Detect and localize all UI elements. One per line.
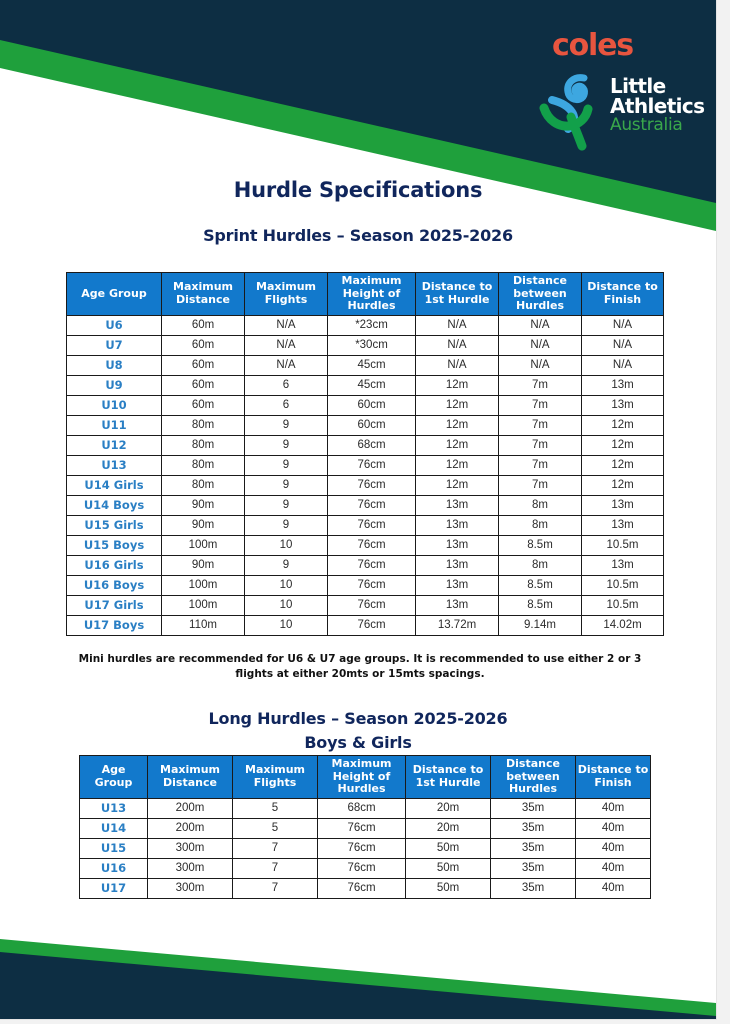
table-cell: N/A (245, 315, 328, 335)
document-page: coles Little Athletics Australia Hurdle … (0, 0, 716, 1019)
table-cell: 50m (406, 878, 491, 898)
little-athletics-runner-icon (538, 72, 608, 152)
coles-logo: coles (552, 28, 633, 63)
table-cell: 8.5m (499, 575, 582, 595)
table-cell: 9 (245, 435, 328, 455)
table-cell: 76cm (328, 475, 416, 495)
table-cell: 60m (162, 315, 245, 335)
table-cell: 10 (245, 615, 328, 635)
table-cell: 20m (406, 798, 491, 818)
table-cell: 35m (491, 838, 576, 858)
table-cell: N/A (416, 355, 499, 375)
table-row: U1060m660cm12m7m13m (67, 395, 664, 415)
long-section-subtitle: Long Hurdles – Season 2025-2026 (0, 709, 716, 728)
table-cell: 76cm (318, 858, 406, 878)
cell-age-group: U15 Girls (67, 515, 162, 535)
col-header-maximum-flights: Maximum Flights (233, 756, 318, 799)
table-cell: 7m (499, 435, 582, 455)
table-cell: 12m (416, 435, 499, 455)
table-row: U16 Boys100m1076cm13m8.5m10.5m (67, 575, 664, 595)
col-header-distance-finish: Distance to Finish (576, 756, 651, 799)
table-cell: 90m (162, 495, 245, 515)
table-row: U13200m568cm20m35m40m (80, 798, 651, 818)
table-cell: 9 (245, 415, 328, 435)
table-cell: 7 (233, 878, 318, 898)
table-cell: 8.5m (499, 535, 582, 555)
table-cell: 8.5m (499, 595, 582, 615)
header-banner: coles Little Athletics Australia (0, 0, 716, 252)
table-cell: 12m (582, 415, 664, 435)
col-header-maximum-height: Maximum Height of Hurdles (318, 756, 406, 799)
logo-line-little: Little (610, 76, 704, 96)
table-row: U16300m776cm50m35m40m (80, 858, 651, 878)
table-cell: 9 (245, 555, 328, 575)
cell-age-group: U17 (80, 878, 148, 898)
table-cell: 50m (406, 838, 491, 858)
table-cell: 76cm (318, 878, 406, 898)
table-cell: 7m (499, 375, 582, 395)
table-row: U1180m960cm12m7m12m (67, 415, 664, 435)
table-cell: 9 (245, 495, 328, 515)
table-cell: 76cm (328, 615, 416, 635)
table-cell: 300m (148, 878, 233, 898)
table-cell: N/A (245, 335, 328, 355)
table-cell: 68cm (328, 435, 416, 455)
table-cell: 40m (576, 818, 651, 838)
col-header-distance-between: Distance between Hurdles (491, 756, 576, 799)
table-cell: N/A (416, 315, 499, 335)
table-cell: 7m (499, 395, 582, 415)
table-cell: 7m (499, 415, 582, 435)
table-row: U15300m776cm50m35m40m (80, 838, 651, 858)
long-section-subtitle-boys-girls: Boys & Girls (0, 733, 716, 752)
table-cell: 12m (582, 455, 664, 475)
cell-age-group: U13 (67, 455, 162, 475)
table-cell: 14.02m (582, 615, 664, 635)
table-cell: 76cm (328, 535, 416, 555)
table-cell: 45cm (328, 355, 416, 375)
cell-age-group: U17 Girls (67, 595, 162, 615)
table-cell: 76cm (328, 555, 416, 575)
cell-age-group: U14 (80, 818, 148, 838)
col-header-maximum-distance: Maximum Distance (148, 756, 233, 799)
table-row: U17 Boys110m1076cm13.72m9.14m14.02m (67, 615, 664, 635)
table-cell: N/A (416, 335, 499, 355)
table-cell: 90m (162, 515, 245, 535)
table-cell: 40m (576, 798, 651, 818)
table-cell: 76cm (328, 515, 416, 535)
table-cell: 76cm (328, 595, 416, 615)
table-cell: 35m (491, 858, 576, 878)
table-cell: 9 (245, 475, 328, 495)
table-cell: 13m (416, 535, 499, 555)
table-cell: N/A (582, 335, 664, 355)
table-cell: 10 (245, 595, 328, 615)
table-cell: 68cm (318, 798, 406, 818)
table-cell: 13m (416, 495, 499, 515)
table-row: U14 Girls80m976cm12m7m12m (67, 475, 664, 495)
table-cell: 20m (406, 818, 491, 838)
table-cell: 8m (499, 555, 582, 575)
table-cell: 200m (148, 818, 233, 838)
table-cell: 40m (576, 878, 651, 898)
page-title: Hurdle Specifications (0, 178, 716, 202)
footer-banner (0, 930, 716, 1019)
table-cell: *30cm (328, 335, 416, 355)
cell-age-group: U15 Boys (67, 535, 162, 555)
table-cell: 80m (162, 475, 245, 495)
long-hurdles-table: Age Group Maximum Distance Maximum Fligh… (79, 755, 651, 899)
col-header-age-group: Age Group (80, 756, 148, 799)
col-header-distance-first-hurdle: Distance to 1st Hurdle (406, 756, 491, 799)
cell-age-group: U16 (80, 858, 148, 878)
table-cell: 13m (582, 555, 664, 575)
table-cell: 7m (499, 475, 582, 495)
table-cell: 40m (576, 838, 651, 858)
table-cell: N/A (499, 355, 582, 375)
table-row: U15 Girls90m976cm13m8m13m (67, 515, 664, 535)
table-cell: 35m (491, 798, 576, 818)
table-cell: 7m (499, 455, 582, 475)
table-cell: 10.5m (582, 595, 664, 615)
table-cell: *23cm (328, 315, 416, 335)
col-header-age-group: Age Group (67, 273, 162, 316)
table-row: U1380m976cm12m7m12m (67, 455, 664, 475)
sprint-hurdles-table: Age Group Maximum Distance Maximum Fligh… (66, 272, 664, 636)
table-cell: 300m (148, 858, 233, 878)
cell-age-group: U17 Boys (67, 615, 162, 635)
sprint-table-footnote: Mini hurdles are recommended for U6 & U7… (60, 652, 660, 682)
cell-age-group: U8 (67, 355, 162, 375)
table-cell: N/A (245, 355, 328, 375)
table-cell: 60cm (328, 395, 416, 415)
table-cell: 13.72m (416, 615, 499, 635)
table-row: U1280m968cm12m7m12m (67, 435, 664, 455)
table-cell: 45cm (328, 375, 416, 395)
table-cell: 12m (416, 455, 499, 475)
table-row: U16 Girls90m976cm13m8m13m (67, 555, 664, 575)
table-cell: 9.14m (499, 615, 582, 635)
cell-age-group: U10 (67, 395, 162, 415)
table-cell: 8m (499, 495, 582, 515)
little-athletics-logo: Little Athletics Australia (538, 70, 703, 155)
table-cell: 13m (582, 515, 664, 535)
col-header-maximum-distance: Maximum Distance (162, 273, 245, 316)
table-cell: 60m (162, 395, 245, 415)
table-cell: 110m (162, 615, 245, 635)
table-cell: 9 (245, 455, 328, 475)
table-cell: 35m (491, 878, 576, 898)
table-cell: 10 (245, 535, 328, 555)
logo-line-australia: Australia (610, 116, 704, 135)
table-cell: 13m (416, 515, 499, 535)
cell-age-group: U6 (67, 315, 162, 335)
table-cell: N/A (582, 355, 664, 375)
table-row: U14200m576cm20m35m40m (80, 818, 651, 838)
table-cell: 50m (406, 858, 491, 878)
table-cell: 13m (416, 595, 499, 615)
table-cell: 13m (582, 375, 664, 395)
table-row: U860mN/A45cmN/AN/AN/A (67, 355, 664, 375)
table-cell: 6 (245, 395, 328, 415)
table-cell: 40m (576, 858, 651, 878)
logo-line-athletics: Athletics (610, 96, 704, 116)
table-cell: 8m (499, 515, 582, 535)
cell-age-group: U14 Girls (67, 475, 162, 495)
cell-age-group: U16 Girls (67, 555, 162, 575)
col-header-maximum-height: Maximum Height of Hurdles (328, 273, 416, 316)
table-cell: 12m (582, 475, 664, 495)
table-cell: 60m (162, 375, 245, 395)
table-cell: 76cm (328, 455, 416, 475)
table-cell: 12m (416, 475, 499, 495)
table-row: U14 Boys90m976cm13m8m13m (67, 495, 664, 515)
col-header-maximum-flights: Maximum Flights (245, 273, 328, 316)
table-cell: 35m (491, 818, 576, 838)
cell-age-group: U7 (67, 335, 162, 355)
table-cell: 80m (162, 455, 245, 475)
cell-age-group: U9 (67, 375, 162, 395)
table-cell: 6 (245, 375, 328, 395)
table-cell: 13m (416, 555, 499, 575)
cell-age-group: U12 (67, 435, 162, 455)
table-cell: 76cm (328, 495, 416, 515)
table-cell: 300m (148, 838, 233, 858)
table-cell: 5 (233, 798, 318, 818)
table-row: U960m645cm12m7m13m (67, 375, 664, 395)
table-cell: 5 (233, 818, 318, 838)
table-cell: 12m (582, 435, 664, 455)
table-cell: 60cm (328, 415, 416, 435)
table-cell: N/A (582, 315, 664, 335)
sprint-section-subtitle: Sprint Hurdles – Season 2025-2026 (0, 226, 716, 245)
table-cell: 76cm (328, 575, 416, 595)
table-cell: N/A (499, 315, 582, 335)
table-row: U15 Boys100m1076cm13m8.5m10.5m (67, 535, 664, 555)
table-row: U17 Girls100m1076cm13m8.5m10.5m (67, 595, 664, 615)
table-cell: 60m (162, 335, 245, 355)
table-row: U660mN/A*23cmN/AN/AN/A (67, 315, 664, 335)
table-cell: 100m (162, 595, 245, 615)
table-cell: 13m (416, 575, 499, 595)
table-cell: 10 (245, 575, 328, 595)
cell-age-group: U16 Boys (67, 575, 162, 595)
table-cell: 7 (233, 858, 318, 878)
table-row: U17300m776cm50m35m40m (80, 878, 651, 898)
table-cell: 100m (162, 535, 245, 555)
cell-age-group: U13 (80, 798, 148, 818)
table-header-row: Age Group Maximum Distance Maximum Fligh… (80, 756, 651, 799)
table-row: U760mN/A*30cmN/AN/AN/A (67, 335, 664, 355)
table-cell: 200m (148, 798, 233, 818)
table-cell: 76cm (318, 838, 406, 858)
table-header-row: Age Group Maximum Distance Maximum Fligh… (67, 273, 664, 316)
col-header-distance-finish: Distance to Finish (582, 273, 664, 316)
table-cell: 12m (416, 415, 499, 435)
table-cell: 10.5m (582, 575, 664, 595)
cell-age-group: U15 (80, 838, 148, 858)
table-cell: 9 (245, 515, 328, 535)
table-cell: 13m (582, 495, 664, 515)
little-athletics-wordmark: Little Athletics Australia (610, 76, 704, 135)
table-cell: 7 (233, 838, 318, 858)
table-cell: 60m (162, 355, 245, 375)
table-cell: 90m (162, 555, 245, 575)
table-cell: 76cm (318, 818, 406, 838)
cell-age-group: U11 (67, 415, 162, 435)
table-cell: N/A (499, 335, 582, 355)
table-cell: 100m (162, 575, 245, 595)
table-cell: 80m (162, 415, 245, 435)
table-cell: 10.5m (582, 535, 664, 555)
cell-age-group: U14 Boys (67, 495, 162, 515)
table-cell: 80m (162, 435, 245, 455)
col-header-distance-first-hurdle: Distance to 1st Hurdle (416, 273, 499, 316)
col-header-distance-between: Distance between Hurdles (499, 273, 582, 316)
table-cell: 13m (582, 395, 664, 415)
table-cell: 12m (416, 395, 499, 415)
table-cell: 12m (416, 375, 499, 395)
